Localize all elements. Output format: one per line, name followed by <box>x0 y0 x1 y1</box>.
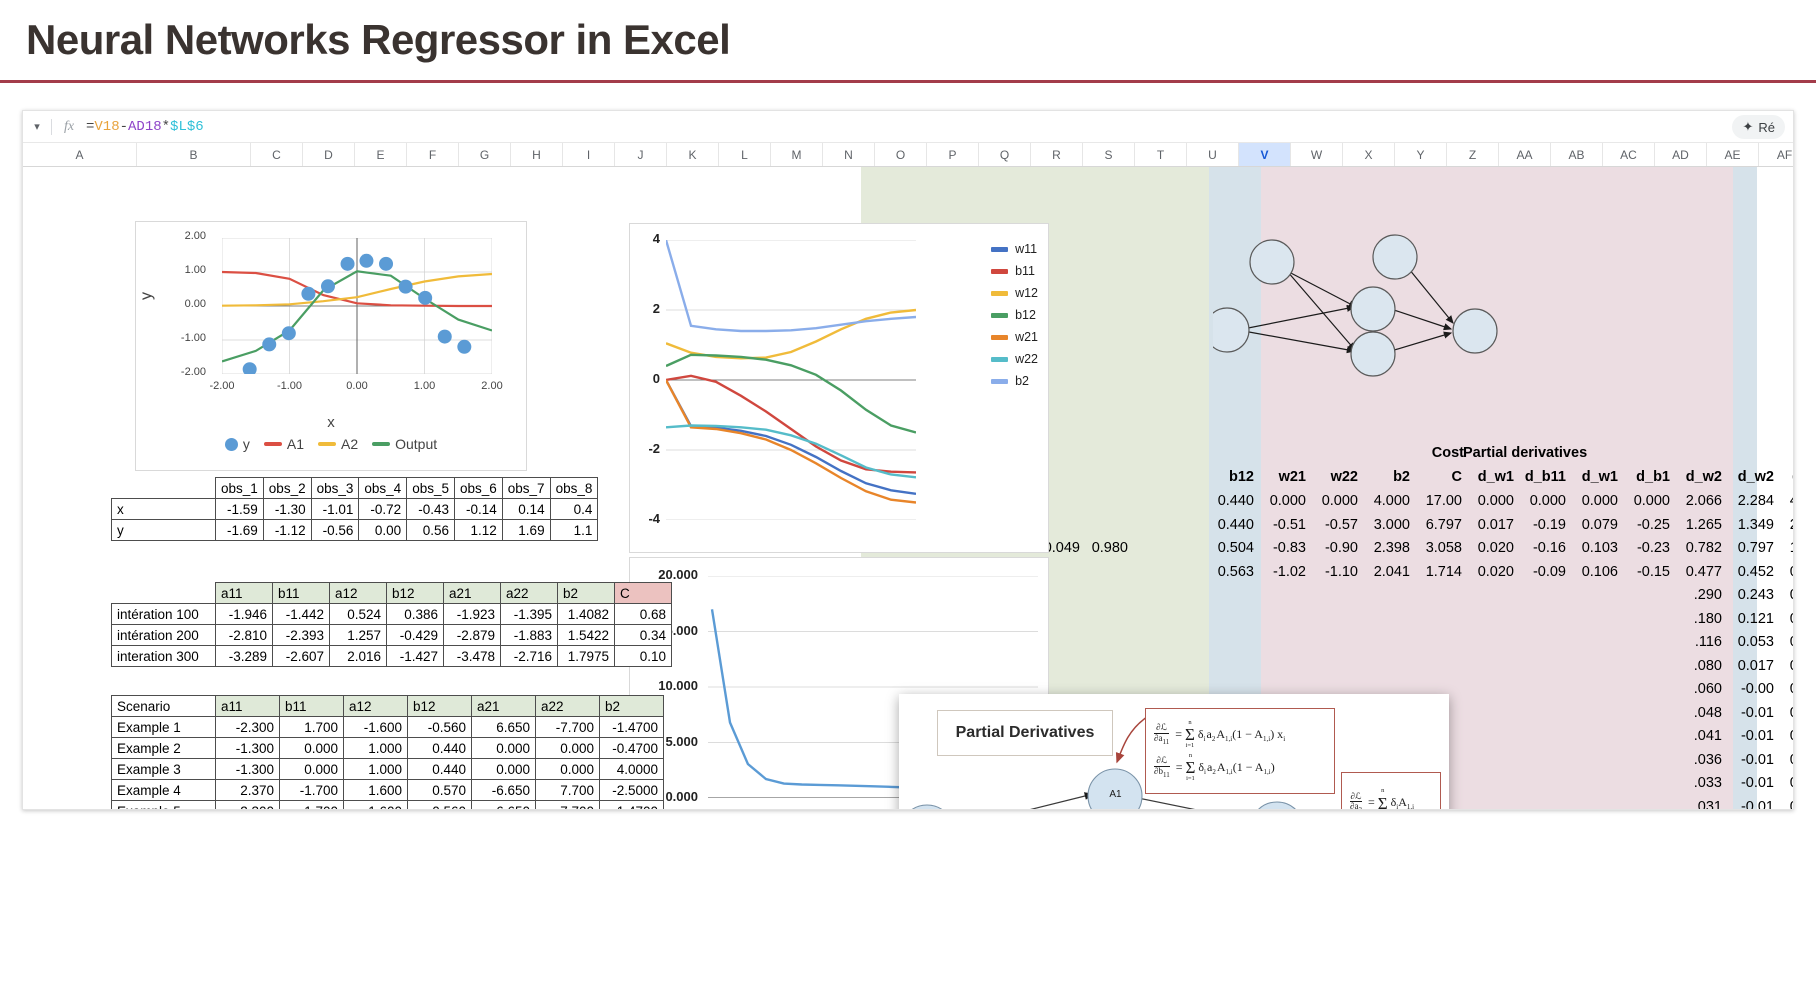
raw-value-cell: 0.243 <box>1729 587 1777 603</box>
table-cell: 1.000 <box>344 738 408 759</box>
table-cell: -2.393 <box>273 625 330 646</box>
column-header-d[interactable]: D <box>303 143 355 166</box>
legend-label: w11 <box>1015 242 1037 256</box>
raw-value-cell: 0.017 <box>1469 517 1517 533</box>
raw-value-cell: 0.018 <box>1781 775 1793 791</box>
raw-value-cell: 0.020 <box>1469 540 1517 556</box>
raw-value-cell: 0.121 <box>1729 611 1777 627</box>
raw-value-cell: .033 <box>1677 775 1725 791</box>
raw-value-cell: -0.09 <box>1521 564 1569 580</box>
column-header-o[interactable]: O <box>875 143 927 166</box>
table-cell: 1.7975 <box>558 646 615 667</box>
chevron-down-icon[interactable]: ▾ <box>23 120 51 133</box>
table-header-row: a11b11a12b12a21a22b2C <box>112 583 672 604</box>
table-row: x-1.59-1.30-1.01-0.72-0.43-0.140.140.4 <box>112 499 598 520</box>
raw-value-cell: 3.058 <box>1417 540 1465 556</box>
table-header-row: obs_1obs_2obs_3obs_4obs_5obs_6obs_7obs_8 <box>112 478 598 499</box>
table-row: Example 3-1.3000.0001.0000.4400.0000.000… <box>112 759 664 780</box>
table-cell: -1.600 <box>344 801 408 811</box>
table-row: Example 1-2.3001.700-1.600-0.5606.650-7.… <box>112 717 664 738</box>
column-header-p[interactable]: P <box>927 143 979 166</box>
raw-value-cell: 2.405 <box>1781 517 1793 533</box>
chart2-series-w12 <box>666 310 916 358</box>
column-header-aa[interactable]: AA <box>1499 143 1551 166</box>
table-cell: 0.14 <box>502 499 550 520</box>
formula-input[interactable]: =V18-AD18*$L$6 <box>86 119 204 135</box>
legend-label: w12 <box>1015 286 1038 300</box>
raw-header-cell: d_w1 <box>1573 469 1621 485</box>
raw-value-cell: 0.000 <box>1469 493 1517 509</box>
raw-value-cell: 2.398 <box>1365 540 1413 556</box>
pd-node-y <box>1250 802 1304 810</box>
table-cell: -1.01 <box>311 499 359 520</box>
nn-node <box>1351 332 1395 376</box>
column-header-cell: b12 <box>387 583 444 604</box>
raw-value-cell: -0.01 <box>1729 705 1777 721</box>
table-cell: -2.5000 <box>600 780 664 801</box>
raw-value-cell: -1.10 <box>1313 564 1361 580</box>
raw-value-cell: 0.079 <box>1573 517 1621 533</box>
table-cell: -0.14 <box>454 499 502 520</box>
legend-label: w21 <box>1015 330 1038 344</box>
raw-value-cell: 0.000 <box>1521 493 1569 509</box>
raw-header-cell: w21 <box>1261 469 1309 485</box>
title-divider <box>0 80 1816 83</box>
legend-label: A1 <box>287 436 304 452</box>
nn-node <box>1453 309 1497 353</box>
column-header-cell <box>112 478 216 499</box>
table-cell: -1.69 <box>216 520 264 541</box>
column-header-cell: obs_6 <box>454 478 502 499</box>
column-header-x[interactable]: X <box>1343 143 1395 166</box>
chart2-series-b12 <box>666 355 916 433</box>
raw-value-cell: 0.028 <box>1781 728 1793 744</box>
gemini-assist-button[interactable]: ✦ Ré <box>1732 115 1785 139</box>
table-row: intération 200-2.810-2.3931.257-0.429-2.… <box>112 625 672 646</box>
chart1-legend-item: Output <box>372 436 437 452</box>
chart2-legend-item: w11 <box>991 238 1038 260</box>
chart2-legend: w11b11w12b12w21w22b2 <box>991 238 1038 392</box>
nn-node <box>1213 308 1249 352</box>
row-label-cell: Example 1 <box>112 717 216 738</box>
column-header-cell: obs_4 <box>359 478 407 499</box>
raw-value-cell: -0.15 <box>1625 564 1673 580</box>
table-cell: 0.00 <box>359 520 407 541</box>
column-header-y[interactable]: Y <box>1395 143 1447 166</box>
raw-header-cell: d_w2 <box>1729 469 1777 485</box>
table-cell: -1.395 <box>501 604 558 625</box>
raw-value-cell: 1.349 <box>1729 517 1777 533</box>
chart2-legend-item: b11 <box>991 260 1038 282</box>
row-label-cell: intération 200 <box>112 625 216 646</box>
chart2-ytick: -2 <box>634 441 660 456</box>
raw-value-cell: 0.797 <box>1729 540 1777 556</box>
chart1-legend: yA1A2Output <box>136 436 526 452</box>
column-header-cell: obs_2 <box>263 478 311 499</box>
chart1-plot <box>222 238 492 374</box>
column-header-cell <box>112 583 216 604</box>
raw-value-cell: 0.440 <box>1209 517 1257 533</box>
scatter-point <box>301 287 315 301</box>
chart1-ytick: 0.00 <box>158 298 206 310</box>
raw-value-cell: 0.563 <box>1209 564 1257 580</box>
column-header-cell: obs_7 <box>502 478 550 499</box>
column-header-k[interactable]: K <box>667 143 719 166</box>
chart2-ytick: 2 <box>634 301 660 316</box>
table-cell: -1.946 <box>216 604 273 625</box>
formula-ref1: V18 <box>94 119 119 135</box>
table-cell: -2.300 <box>216 717 280 738</box>
nn-node <box>1250 240 1294 284</box>
table-row: interation 300-3.289-2.6072.016-1.427-3.… <box>112 646 672 667</box>
column-header-cell: a22 <box>501 583 558 604</box>
sheet-grid: CostPartial derivativesb12w21w22b2Cd_w1d… <box>23 167 1793 810</box>
pd-node-x <box>900 805 954 810</box>
column-header-cell: Scenario <box>112 696 216 717</box>
neural-network-diagram <box>1213 227 1513 407</box>
chart2-legend-item: b12 <box>991 304 1038 326</box>
legend-label: w22 <box>1015 352 1038 366</box>
column-header-g[interactable]: G <box>459 143 511 166</box>
table-cell: 0.56 <box>407 520 455 541</box>
legend-swatch <box>372 442 390 446</box>
raw-value-cell: 2.041 <box>1365 564 1413 580</box>
column-header-m[interactable]: M <box>771 143 823 166</box>
raw-value-cell: 3.000 <box>1365 517 1413 533</box>
chart1-legend-item: A1 <box>264 436 304 452</box>
table-cell: -3.289 <box>216 646 273 667</box>
table-cell: 0.570 <box>408 780 472 801</box>
chart1-xtick: 0.00 <box>335 380 379 392</box>
table-row: Example 42.370-1.7001.6000.570-6.6507.70… <box>112 780 664 801</box>
raw-value-cell: -0.23 <box>1625 540 1673 556</box>
column-header-e[interactable]: E <box>355 143 407 166</box>
raw-value-cell: 1.428 <box>1781 540 1793 556</box>
column-header-n[interactable]: N <box>823 143 875 166</box>
column-header-q[interactable]: Q <box>979 143 1031 166</box>
raw-value-cell: -0.90 <box>1313 540 1361 556</box>
table-cell: -1.30 <box>263 499 311 520</box>
table-cell: 2.370 <box>216 780 280 801</box>
raw-header-cell: C <box>1417 469 1465 485</box>
raw-value-cell: 0.016 <box>1781 799 1793 811</box>
raw-header-cell: d_b1 <box>1625 469 1673 485</box>
legend-swatch <box>991 291 1008 296</box>
column-header-r[interactable]: R <box>1031 143 1083 166</box>
column-header-cell: a21 <box>444 583 501 604</box>
column-header-cell: a12 <box>344 696 408 717</box>
formula-star: * <box>162 119 170 135</box>
nn-node <box>1373 235 1417 279</box>
chart2-series-b11 <box>666 376 916 473</box>
raw-header-cell: d_w2 <box>1677 469 1725 485</box>
chart3-ytick: 20.000 <box>638 567 698 582</box>
row-label-cell: y <box>112 520 216 541</box>
raw-value-cell: 1.265 <box>1677 517 1725 533</box>
table-cell: 0.440 <box>408 738 472 759</box>
column-header-j[interactable]: J <box>615 143 667 166</box>
row-label-cell: interation 300 <box>112 646 216 667</box>
column-header-v[interactable]: V <box>1239 143 1291 166</box>
raw-value-cell: 0.000 <box>1573 493 1621 509</box>
table-cell: -7.700 <box>536 801 600 811</box>
raw-header-cell: b2 <box>1365 469 1413 485</box>
chart1-xtick: 2.00 <box>470 380 514 392</box>
table-cell: 1.12 <box>454 520 502 541</box>
legend-label: y <box>243 436 250 452</box>
chart1-legend-item: A2 <box>318 436 358 452</box>
chart1-xlabel: x <box>136 414 526 431</box>
table-cell: -0.56 <box>311 520 359 541</box>
column-header-ab[interactable]: AB <box>1551 143 1603 166</box>
table-cell: 1.4082 <box>558 604 615 625</box>
raw-value-cell: 4.000 <box>1781 493 1793 509</box>
formula-da2: ∂ℒ∂a2 = nΣi=1 δiA1,i <box>1350 788 1432 810</box>
column-header-a[interactable]: A <box>23 143 137 166</box>
table-cell: -0.560 <box>408 801 472 811</box>
column-header-cell: obs_1 <box>216 478 264 499</box>
legend-swatch <box>264 442 282 446</box>
scatter-point <box>438 330 452 344</box>
formula-ref2: AD18 <box>128 119 162 135</box>
raw-value-cell: 0.039 <box>1781 705 1793 721</box>
table-cell: 1.000 <box>344 759 408 780</box>
column-header-h[interactable]: H <box>511 143 563 166</box>
chart1-ytick: 2.00 <box>158 230 206 242</box>
table-cell: 0.000 <box>472 738 536 759</box>
chart3-ytick: 10.000 <box>638 678 698 693</box>
raw-value-cell: 0.022 <box>1781 752 1793 768</box>
raw-value-cell: 0.475 <box>1781 587 1793 603</box>
observations-table: obs_1obs_2obs_3obs_4obs_5obs_6obs_7obs_8… <box>111 477 598 541</box>
raw-value-cell: 0.980 <box>1087 540 1131 556</box>
column-header-i[interactable]: I <box>563 143 615 166</box>
column-header-w[interactable]: W <box>1291 143 1343 166</box>
raw-value-cell: 0.058 <box>1781 681 1793 697</box>
scatter-point <box>379 257 393 271</box>
raw-value-cell: .036 <box>1677 752 1725 768</box>
regression-fit-chart[interactable]: y 2.001.000.00-1.00-2.00 -2.00-1.000.001… <box>135 221 527 471</box>
raw-value-cell: -0.01 <box>1729 775 1777 791</box>
chart1-xtick: -1.00 <box>268 380 312 392</box>
chart1-ytick: 1.00 <box>158 264 206 276</box>
legend-label: Output <box>395 436 437 452</box>
column-header-cell: b11 <box>280 696 344 717</box>
column-header-ae[interactable]: AE <box>1707 143 1759 166</box>
chart2-series-b2 <box>666 240 916 331</box>
raw-value-cell: .080 <box>1677 658 1725 674</box>
table-cell: 7.700 <box>536 780 600 801</box>
raw-value-cell: 0.830 <box>1781 564 1793 580</box>
table-cell: 0.386 <box>387 604 444 625</box>
scatter-point <box>282 326 296 340</box>
raw-value-cell: 6.797 <box>1417 517 1465 533</box>
legend-label: b2 <box>1015 374 1029 388</box>
column-header-cell: obs_5 <box>407 478 455 499</box>
raw-value-cell: .116 <box>1677 634 1725 650</box>
raw-header-cell: d_w1 <box>1469 469 1517 485</box>
partial-derivatives-panel[interactable]: Partial Derivatives <box>899 694 1449 810</box>
column-header-cell: a11 <box>216 696 280 717</box>
scatter-point <box>457 340 471 354</box>
table-cell: -1.12 <box>263 520 311 541</box>
iterations-table: a11b11a12b12a21a22b2Cintération 100-1.94… <box>111 582 672 667</box>
column-header-l[interactable]: L <box>719 143 771 166</box>
table-cell: -1.300 <box>216 738 280 759</box>
table-cell: 0.000 <box>280 759 344 780</box>
formula-minus: - <box>120 119 128 135</box>
chart1-ytick: -2.00 <box>158 366 206 378</box>
table-cell: 1.700 <box>280 801 344 811</box>
raw-value-cell: -1.02 <box>1261 564 1309 580</box>
scatter-point <box>359 254 373 268</box>
column-header-cell: b12 <box>408 696 472 717</box>
raw-value-cell: -0.25 <box>1625 517 1673 533</box>
raw-header-cell: Cost <box>1407 445 1467 461</box>
table-cell: 6.650 <box>472 801 536 811</box>
table-cell: -2.300 <box>216 801 280 811</box>
raw-value-cell: 0.477 <box>1677 564 1725 580</box>
chart2-series-w21 <box>666 380 916 503</box>
table-cell: -0.72 <box>359 499 407 520</box>
raw-value-cell: -0.16 <box>1521 540 1569 556</box>
weights-convergence-chart[interactable]: 420-2-4 w11b11w12b12w21w22b2 <box>629 223 1049 553</box>
raw-header-cell: d_b2 <box>1781 469 1793 485</box>
table-cell: -0.560 <box>408 717 472 738</box>
legend-swatch <box>225 438 238 451</box>
legend-label: b11 <box>1015 264 1035 278</box>
raw-value-cell: 0.782 <box>1677 540 1725 556</box>
raw-value-cell: 0.000 <box>1625 493 1673 509</box>
fx-icon: fx <box>52 119 86 135</box>
chart1-ylabel: y <box>138 292 156 300</box>
column-header-ad[interactable]: AD <box>1655 143 1707 166</box>
chart1-ytick: -1.00 <box>158 332 206 344</box>
legend-label: b12 <box>1015 308 1036 322</box>
column-header-cell: a11 <box>216 583 273 604</box>
table-cell: -1.700 <box>280 780 344 801</box>
table-cell: -0.43 <box>407 499 455 520</box>
table-cell: -1.4700 <box>600 717 664 738</box>
row-label-cell: Example 5 <box>112 801 216 811</box>
raw-value-cell: 2.284 <box>1729 493 1777 509</box>
column-header-ac[interactable]: AC <box>1603 143 1655 166</box>
raw-value-cell: .180 <box>1677 611 1725 627</box>
raw-value-cell: .060 <box>1677 681 1725 697</box>
column-header-c[interactable]: C <box>251 143 303 166</box>
column-header-t[interactable]: T <box>1135 143 1187 166</box>
raw-header-cell: b12 <box>1209 469 1257 485</box>
pd-node-label-a1: A1 <box>1103 789 1128 800</box>
table-cell: 0.000 <box>536 759 600 780</box>
table-cell: -0.429 <box>387 625 444 646</box>
column-header-f[interactable]: F <box>407 143 459 166</box>
raw-value-cell: -0.01 <box>1729 752 1777 768</box>
raw-value-cell: .031 <box>1677 799 1725 811</box>
table-cell: -1.427 <box>387 646 444 667</box>
raw-value-cell: 0.093 <box>1781 658 1793 674</box>
table-cell: 1.600 <box>344 780 408 801</box>
chart2-ytick: 0 <box>634 371 660 386</box>
table-cell: -2.879 <box>444 625 501 646</box>
sparkle-icon: ✦ <box>1742 119 1753 135</box>
chart2-ytick: 4 <box>634 231 660 246</box>
column-header-u[interactable]: U <box>1187 143 1239 166</box>
table-cell: 0.4 <box>550 499 598 520</box>
column-header-z[interactable]: Z <box>1447 143 1499 166</box>
nn-node <box>1351 287 1395 331</box>
raw-value-cell: 0.000 <box>1261 493 1309 509</box>
raw-value-cell: -0.19 <box>1521 517 1569 533</box>
column-header-s[interactable]: S <box>1083 143 1135 166</box>
row-label-cell: x <box>112 499 216 520</box>
table-row: Example 2-1.3000.0001.0000.4400.0000.000… <box>112 738 664 759</box>
legend-swatch <box>991 247 1008 252</box>
table-row: y-1.69-1.12-0.560.000.561.121.691.1 <box>112 520 598 541</box>
raw-value-cell: 0.452 <box>1729 564 1777 580</box>
raw-header-cell: d_b11 <box>1521 469 1569 485</box>
table-cell: -1.923 <box>444 604 501 625</box>
row-label-cell: Example 2 <box>112 738 216 759</box>
raw-value-cell: 0.000 <box>1313 493 1361 509</box>
legend-swatch <box>318 442 336 446</box>
table-header-row: Scenarioa11b11a12b12a21a22b2 <box>112 696 664 717</box>
raw-value-cell: 0.440 <box>1209 493 1257 509</box>
legend-label: A2 <box>341 436 358 452</box>
column-header-row: ABCDEFGHIJKLMNOPQRSTUVWXYZAAABACADAEAF <box>23 143 1793 167</box>
column-header-cell: C <box>615 583 672 604</box>
spreadsheet-window: ▾ fx =V18-AD18*$L$6 ✦ Ré ABCDEFGHIJKLMNO… <box>22 110 1794 810</box>
raw-value-cell: 0.017 <box>1729 658 1777 674</box>
raw-value-cell: 1.714 <box>1417 564 1465 580</box>
column-header-cell: b2 <box>558 583 615 604</box>
column-header-b[interactable]: B <box>137 143 251 166</box>
raw-value-cell: 17.00 <box>1417 493 1465 509</box>
raw-value-cell: 0.020 <box>1469 564 1517 580</box>
chart1-xtick: -2.00 <box>200 380 244 392</box>
table-cell: -6.650 <box>472 780 536 801</box>
chart2-ytick: -4 <box>634 511 660 526</box>
raw-value-cell: .290 <box>1677 587 1725 603</box>
scatter-point <box>321 279 335 293</box>
table-row: intération 100-1.946-1.4420.5240.386-1.9… <box>112 604 672 625</box>
table-cell: 0.34 <box>615 625 672 646</box>
raw-value-cell: -0.51 <box>1261 517 1309 533</box>
raw-value-cell: 0.053 <box>1729 634 1777 650</box>
raw-value-cell: 0.106 <box>1573 564 1621 580</box>
scatter-point <box>399 280 413 294</box>
raw-value-cell: -0.00 <box>1729 681 1777 697</box>
column-header-cell: a12 <box>330 583 387 604</box>
formula-bar: ▾ fx =V18-AD18*$L$6 ✦ Ré <box>23 111 1793 143</box>
row-label-cell: Example 3 <box>112 759 216 780</box>
table-cell: -1.442 <box>273 604 330 625</box>
raw-value-cell: 4.000 <box>1365 493 1413 509</box>
legend-swatch <box>991 379 1008 384</box>
table-cell: 4.0000 <box>600 759 664 780</box>
scatter-point <box>262 337 276 351</box>
table-cell: -0.4700 <box>600 738 664 759</box>
column-header-af[interactable]: AF <box>1759 143 1794 166</box>
table-cell: 0.68 <box>615 604 672 625</box>
chart2-legend-item: b2 <box>991 370 1038 392</box>
raw-value-cell: 0.157 <box>1781 634 1793 650</box>
chart2-legend-item: w22 <box>991 348 1038 370</box>
gemini-assist-label: Ré <box>1758 120 1775 135</box>
raw-value-cell: 0.504 <box>1209 540 1257 556</box>
table-cell: -1.600 <box>344 717 408 738</box>
column-header-cell: a22 <box>536 696 600 717</box>
